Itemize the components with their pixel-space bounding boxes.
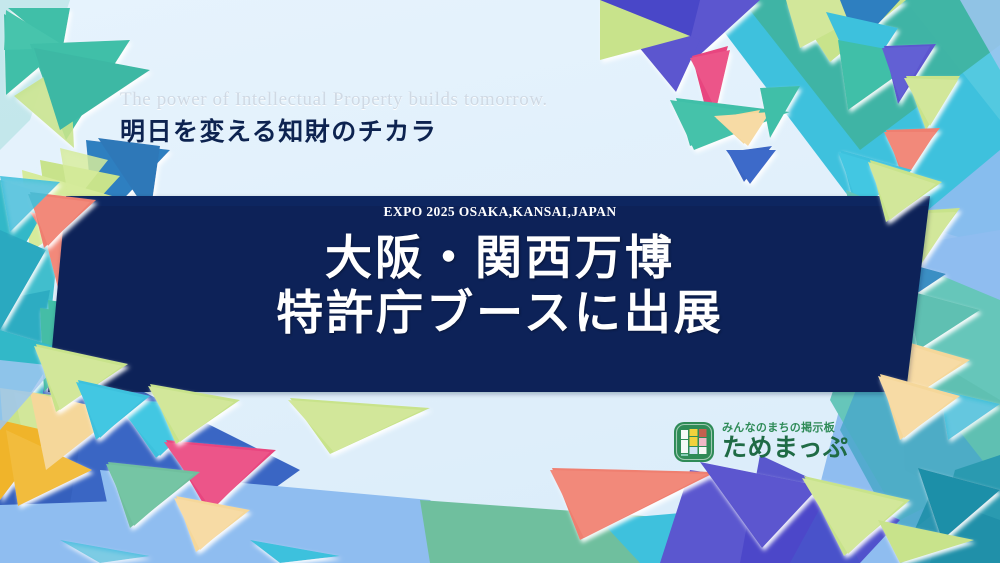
tamemap-bulletin-board-icon [673,421,715,463]
banner-headline-line1: 大阪・関西万博 [0,231,1000,286]
banner-text-block: EXPO 2025 OSAKA,KANSAI,JAPAN 大阪・関西万博 特許庁… [0,205,1000,341]
expo-banner-graphic: The power of Intellectual Property build… [0,0,1000,563]
banner-kicker: EXPO 2025 OSAKA,KANSAI,JAPAN [0,205,1000,219]
tamemap-logo[interactable]: みんなのまちの掲示板 ためまっぷ [673,421,849,463]
tagline-block: The power of Intellectual Property build… [120,88,548,148]
tagline-japanese: 明日を変える知財のチカラ [120,116,548,149]
logo-name: ためまっぷ [722,435,849,461]
banner-headline-line2: 特許庁ブースに出展 [0,286,1000,341]
tagline-english: The power of Intellectual Property build… [120,88,548,112]
logo-text-block: みんなのまちの掲示板 ためまっぷ [722,422,849,461]
